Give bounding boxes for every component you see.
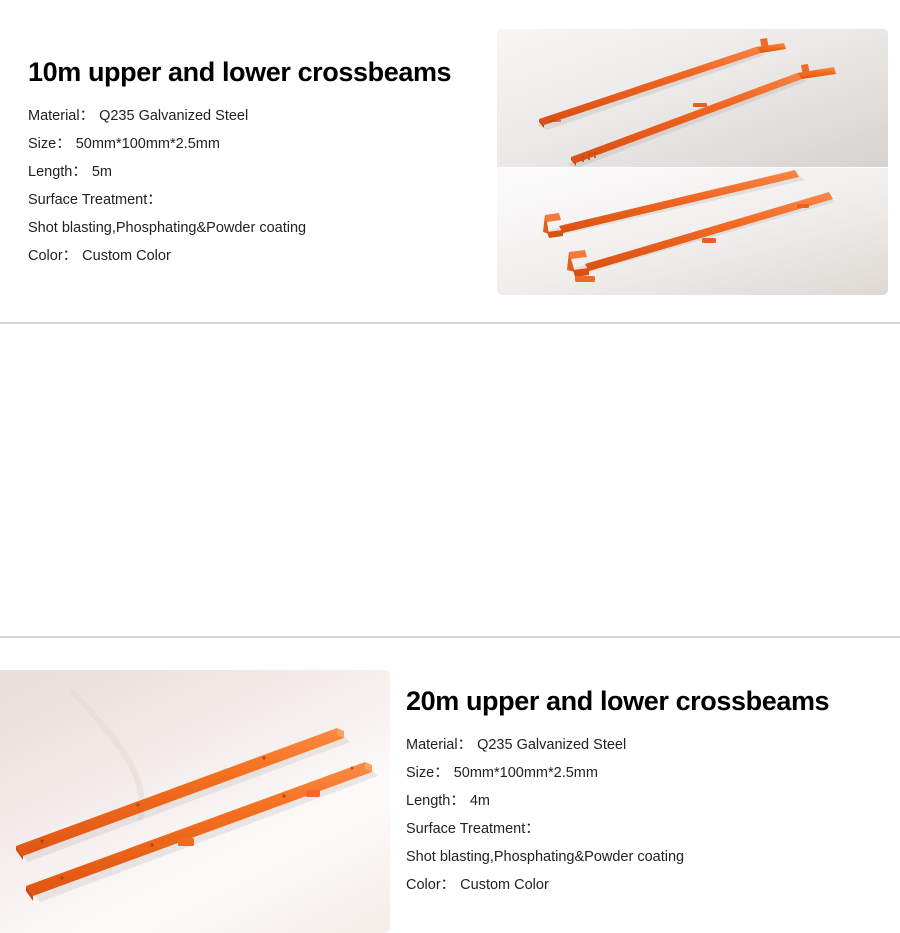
spec-colon-material: ：: [80, 108, 97, 124]
spec-value-color: Custom Color: [82, 248, 171, 264]
spec-colon-color: ：: [441, 877, 458, 893]
section-divider-top: [0, 322, 900, 324]
spec-label-material: Material: [406, 737, 458, 753]
spec-row-length: Length：4m: [406, 787, 866, 815]
spec-colon-length: ：: [72, 164, 89, 180]
spec-colon-surface-treatment: ：: [525, 821, 542, 837]
spec-value-material: Q235 Galvanized Steel: [99, 108, 248, 124]
spec-colon-size: ：: [56, 136, 73, 152]
section-divider-bottom: [0, 636, 900, 638]
spec-value-material: Q235 Galvanized Steel: [477, 737, 626, 753]
spec-label-color: Color: [406, 877, 441, 893]
spec-value-size: 50mm*100mm*2.5mm: [454, 765, 598, 781]
spec-label-material: Material: [28, 108, 80, 124]
spec-row-color: Color：Custom Color: [28, 242, 478, 270]
spec-list-20m: Material：Q235 Galvanized Steel Size：50mm…: [406, 731, 866, 899]
spec-value-color: Custom Color: [460, 877, 549, 893]
spec-value-length: 4m: [470, 793, 490, 809]
spec-text-block-20m: 20m upper and lower crossbeams Material：…: [406, 687, 866, 899]
spec-colon-length: ：: [450, 793, 467, 809]
spec-label-color: Color: [28, 248, 63, 264]
crossbeam-photo-bottom: [497, 168, 888, 295]
product-section-10m: 10m upper and lower crossbeams Material：…: [0, 0, 900, 323]
spec-label-length: Length: [406, 793, 450, 809]
spec-label-size: Size: [406, 765, 434, 781]
spec-colon-material: ：: [458, 737, 475, 753]
spec-value-surface-treatment-detail: Shot blasting,Phosphating&Powder coating: [28, 220, 306, 236]
spec-list-10m: Material：Q235 Galvanized Steel Size：50mm…: [28, 102, 478, 270]
spec-colon-color: ：: [63, 248, 80, 264]
spec-value-length: 5m: [92, 164, 112, 180]
spec-colon-size: ：: [434, 765, 451, 781]
crossbeam-photo-top: [497, 29, 888, 167]
spec-text-block-10m: 10m upper and lower crossbeams Material：…: [28, 58, 478, 270]
spec-colon-surface-treatment: ：: [147, 192, 164, 208]
spec-row-surface-treatment-detail: Shot blasting,Phosphating&Powder coating: [28, 214, 478, 242]
spec-row-color: Color：Custom Color: [406, 871, 866, 899]
page-title-10m: 10m upper and lower crossbeams: [28, 58, 478, 88]
spec-row-surface-treatment-detail: Shot blasting,Phosphating&Powder coating: [406, 843, 866, 871]
spec-row-size: Size：50mm*100mm*2.5mm: [28, 130, 478, 158]
spec-label-surface-treatment: Surface Treatment: [406, 821, 525, 837]
spec-row-length: Length：5m: [28, 158, 478, 186]
product-section-20m: 20m upper and lower crossbeams Material：…: [0, 325, 900, 637]
spec-row-surface-treatment: Surface Treatment：: [406, 815, 866, 843]
page-title-20m: 20m upper and lower crossbeams: [406, 687, 866, 717]
spec-label-size: Size: [28, 136, 56, 152]
spec-row-material: Material：Q235 Galvanized Steel: [28, 102, 478, 130]
spec-row-surface-treatment: Surface Treatment：: [28, 186, 478, 214]
spec-label-length: Length: [28, 164, 72, 180]
spec-label-surface-treatment: Surface Treatment: [28, 192, 147, 208]
spec-value-size: 50mm*100mm*2.5mm: [76, 136, 220, 152]
spec-row-size: Size：50mm*100mm*2.5mm: [406, 759, 866, 787]
spec-row-material: Material：Q235 Galvanized Steel: [406, 731, 866, 759]
spec-value-surface-treatment-detail: Shot blasting,Phosphating&Powder coating: [406, 849, 684, 865]
crossbeam-photo-main: [0, 670, 390, 933]
